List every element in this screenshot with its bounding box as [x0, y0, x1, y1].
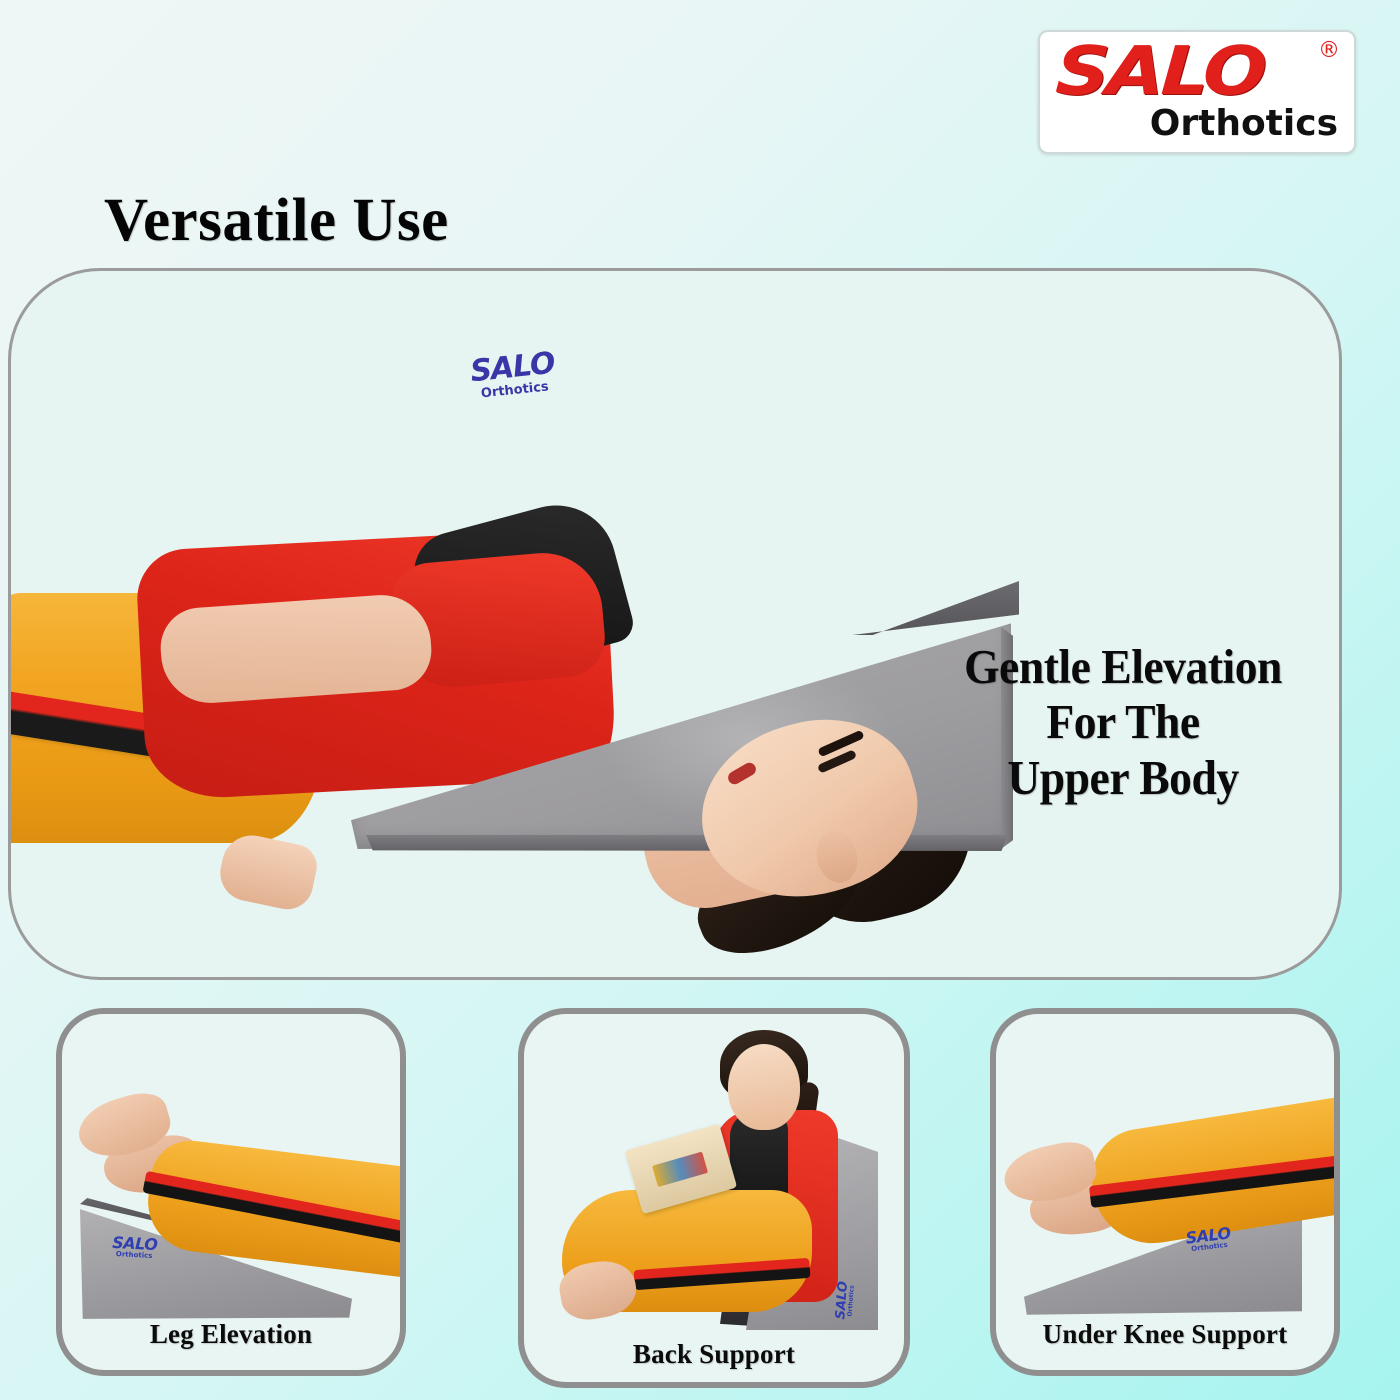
hero-photo-scene: SALO Orthotics: [11, 271, 1339, 977]
hero-card: SALO Orthotics Gentle Elevation For The …: [8, 268, 1342, 980]
wedge-brand-logo: SALO Orthotics: [111, 1235, 157, 1260]
use-case-caption: Leg Elevation: [62, 1319, 400, 1350]
wedge-top-face: [849, 581, 1019, 635]
page-title: Versatile Use: [104, 186, 449, 256]
hero-tagline-line-1: Gentle Elevation: [937, 639, 1309, 694]
use-case-card-back-support[interactable]: SALO Orthotics Back Support: [518, 1008, 910, 1388]
hero-tagline-line-3: Upper Body: [937, 750, 1309, 805]
use-case-caption: Under Knee Support: [996, 1319, 1334, 1350]
wedge-brand-logo: SALO Orthotics: [834, 1281, 856, 1321]
wedge-base-edge: [353, 835, 1008, 851]
leg-elevation-photo: SALO Orthotics: [62, 1014, 400, 1370]
wedge-brand-logo: SALO Orthotics: [469, 349, 558, 402]
use-case-card-under-knee-support[interactable]: SALO Orthotics Under Knee Support: [990, 1008, 1340, 1376]
hero-tagline-line-2: For The: [937, 694, 1309, 749]
brand-logo: SALO ® Orthotics: [1038, 30, 1356, 154]
logo-wordmark-row: SALO ®: [1056, 38, 1338, 104]
model-hand: [215, 830, 321, 914]
back-support-photo: SALO Orthotics: [524, 1014, 904, 1382]
under-knee-support-photo: SALO Orthotics: [996, 1014, 1334, 1370]
registered-trademark-icon: ®: [1318, 38, 1340, 63]
logo-wordmark-orthotics: Orthotics: [1150, 104, 1338, 144]
model-arm: [158, 592, 434, 707]
model-head: [728, 1044, 800, 1130]
hero-tagline: Gentle Elevation For The Upper Body: [937, 639, 1309, 805]
use-case-thumbnail-row: SALO Orthotics Leg Elevation SALO Orthot…: [0, 1008, 1400, 1388]
use-case-card-leg-elevation[interactable]: SALO Orthotics Leg Elevation: [56, 1008, 406, 1376]
use-case-caption: Back Support: [524, 1339, 904, 1370]
